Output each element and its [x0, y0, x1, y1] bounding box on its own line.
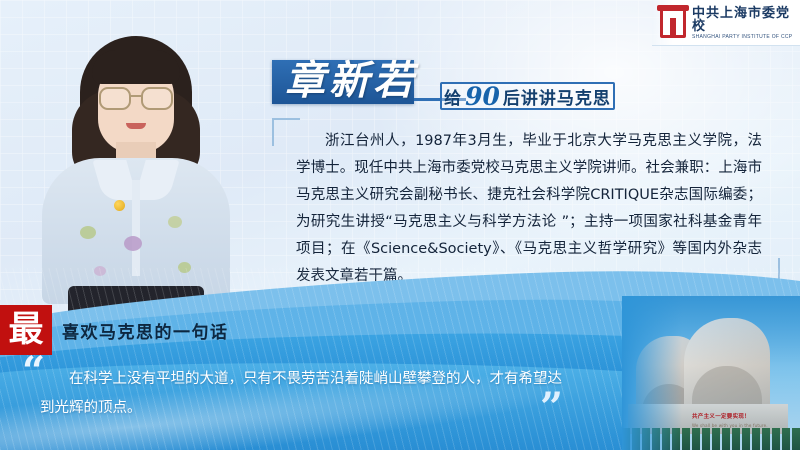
portrait-fringe	[92, 50, 180, 84]
portrait-mouth	[126, 123, 146, 129]
institute-logo-text: 中共上海市委党校 SHANGHAI PARTY INSTITUTE OF CCP	[692, 6, 800, 40]
blouse-floral-print	[168, 216, 182, 228]
marx-engels-monument-photo: 共产主义一定要实现！ We shall be with you in the f…	[622, 296, 800, 450]
portrait-glasses	[99, 87, 173, 106]
biography-frame: 浙江台州人，1987年3月生，毕业于北京大学马克思主义学院，法学博士。现任中共上…	[272, 118, 780, 286]
speaker-name: 章新若	[276, 52, 426, 110]
section-headline: 喜欢马克思的一句话	[62, 318, 229, 343]
monument-left-fade	[622, 296, 682, 450]
subtitle-prefix: 给	[444, 84, 462, 109]
quote-text: 在科学上没有平坦的大道，只有不畏劳苦沿着陡峭山壁攀登的人，才有希望达到光辉的顶点…	[40, 365, 570, 423]
institute-logo-bar: 中共上海市委党校 SHANGHAI PARTY INSTITUTE OF CCP	[652, 0, 800, 46]
biography-text: 浙江台州人，1987年3月生，毕业于北京大学马克思主义学院，法学博士。现任中共上…	[296, 128, 762, 290]
institute-name-cn: 中共上海市委党校	[692, 6, 800, 32]
institute-name-en: SHANGHAI PARTY INSTITUTE OF CCP	[692, 35, 800, 40]
poster-canvas: 中共上海市委党校 SHANGHAI PARTY INSTITUTE OF CCP…	[0, 0, 800, 450]
series-subtitle-box: 给 90 后讲讲马克思	[440, 82, 615, 110]
blouse-floral-print	[80, 226, 96, 239]
blouse-floral-print	[124, 236, 142, 251]
portrait-placket	[132, 180, 140, 276]
quote-close-mark: ”	[540, 388, 563, 428]
subtitle-number: 90	[463, 84, 502, 109]
subtitle-suffix: 后讲讲马克思	[503, 84, 611, 109]
gate-archway-icon	[660, 8, 686, 38]
party-emblem-pin-icon	[114, 200, 125, 211]
speaker-portrait	[28, 30, 243, 302]
